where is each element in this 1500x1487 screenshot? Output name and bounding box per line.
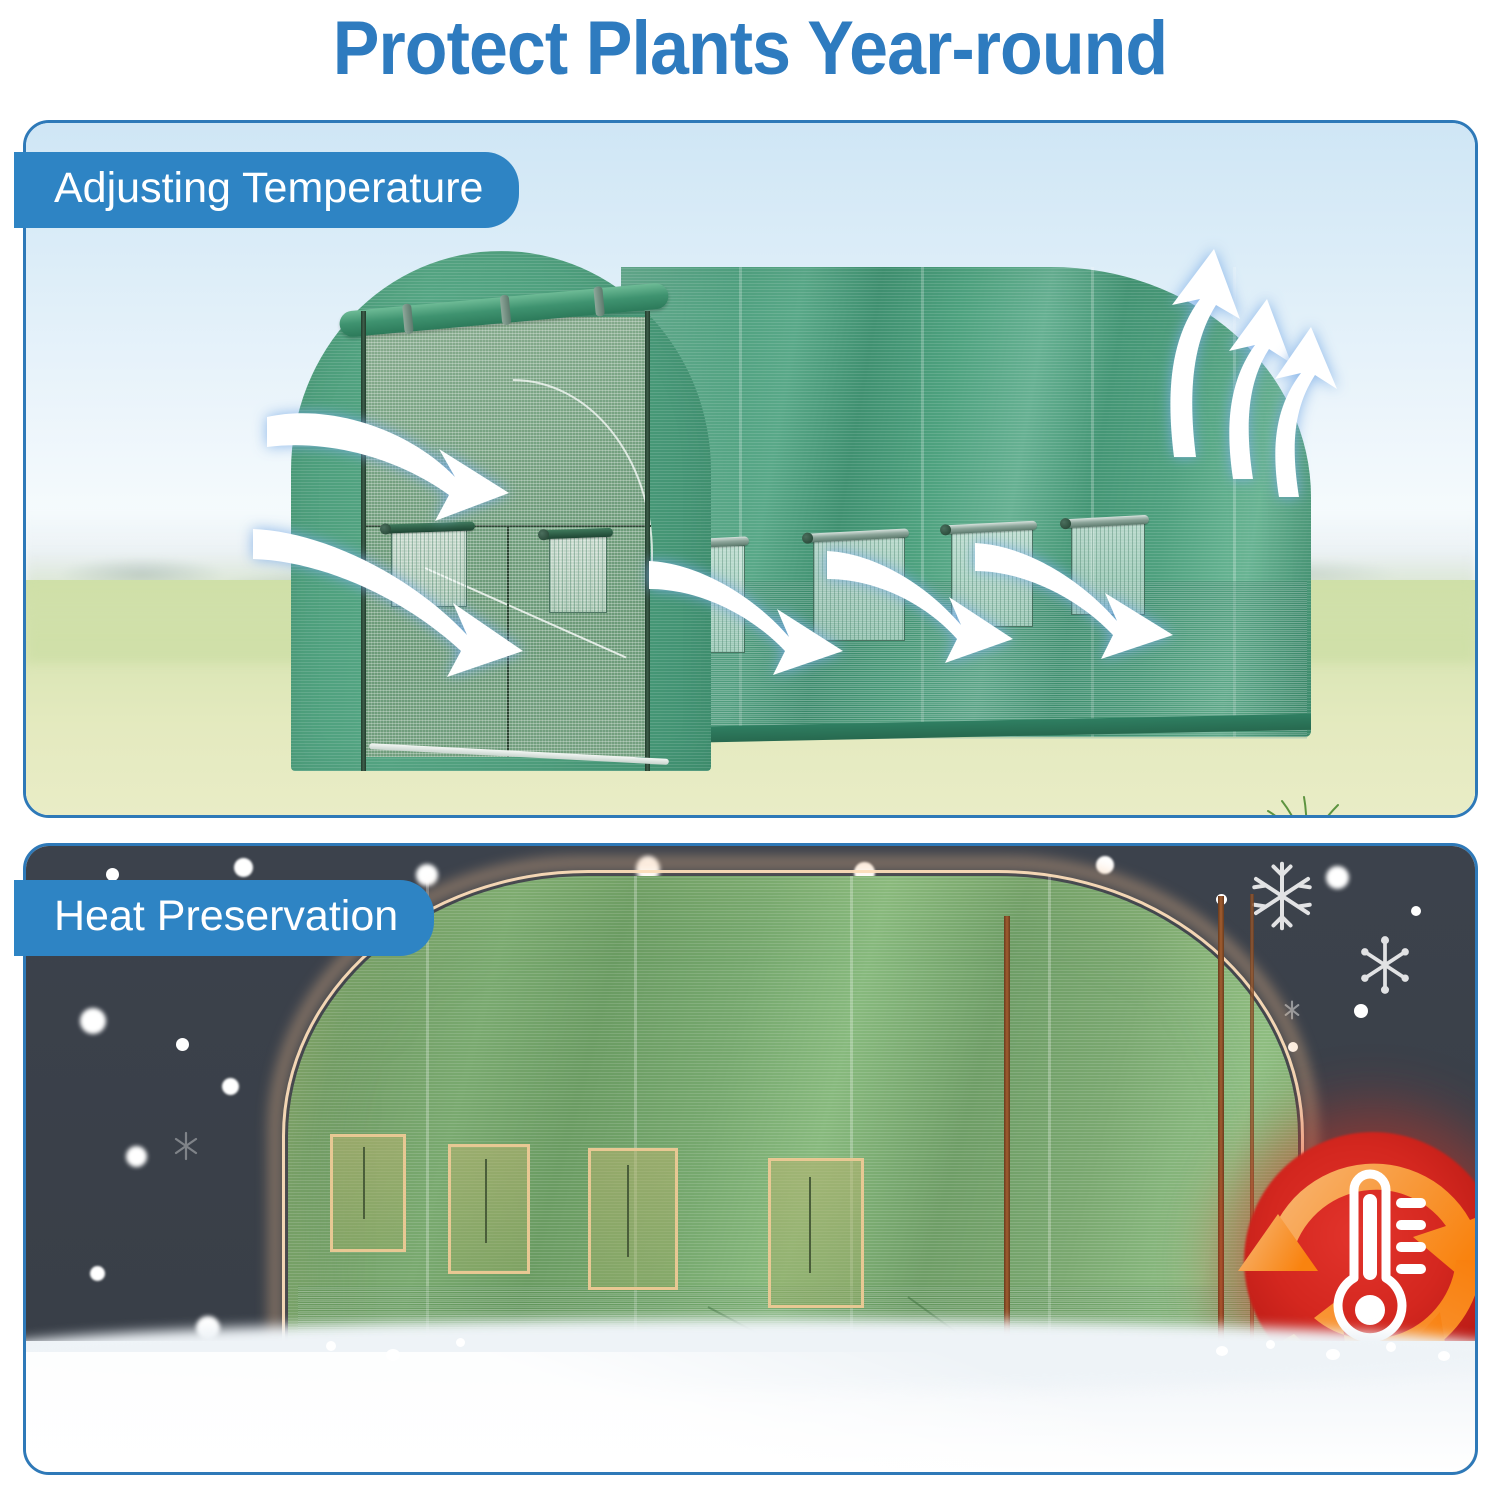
greenhouse-window [768, 1158, 864, 1308]
greenhouse-window [588, 1148, 678, 1290]
grass-tuft-icon [1254, 791, 1359, 818]
airflow-arrow-up-3-icon [1239, 321, 1349, 501]
badge-adjusting-temperature: Adjusting Temperature [14, 152, 519, 228]
badge-heat-preservation: Heat Preservation [14, 880, 434, 956]
door-post-right [645, 311, 650, 771]
snowflake-icon [1354, 934, 1416, 996]
airflow-arrow-side-3-icon [969, 531, 1209, 681]
page-title: Protect Plants Year-round [60, 2, 1440, 96]
greenhouse-window [330, 1134, 406, 1252]
infographic-page: Protect Plants Year-round [0, 0, 1500, 1487]
snowflake-icon [166, 1126, 206, 1166]
snow-drift [23, 1352, 1478, 1472]
airflow-arrow-in-lower-icon [247, 501, 597, 721]
greenhouse-window [448, 1144, 530, 1274]
greenhouse-summer [291, 251, 1311, 811]
